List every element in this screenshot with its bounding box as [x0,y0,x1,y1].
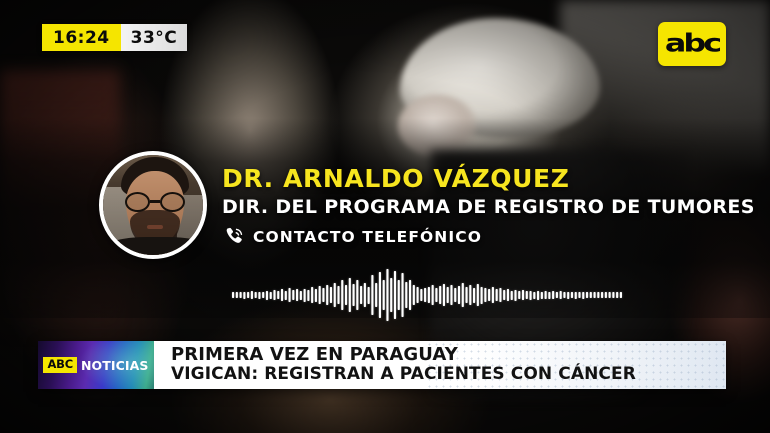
audio-waveform [232,268,622,322]
clock-time: 16:24 [42,24,121,51]
waveform-bar [578,292,580,298]
broadcast-video-frame: 16:24 33°C abc DR. ARNALDO VÁZQUEZ DIR. [0,0,770,433]
abc-logo-text: abc [665,31,719,56]
waveform-bar [511,291,513,300]
waveform-bar [601,292,603,298]
waveform-bar [375,283,377,307]
waveform-bar [612,292,614,298]
waveform-bar [420,289,422,301]
waveform-bar [469,285,471,305]
waveform-bar [401,273,403,317]
waveform-bar [582,292,584,299]
waveform-bar [277,291,279,299]
avatar-glasses-icon [123,192,187,212]
waveform-bar [552,291,554,299]
waveform-bar [492,287,494,303]
waveform-bar [315,289,317,302]
waveform-bar [481,287,483,304]
waveform-bar [356,280,358,310]
waveform-bar [620,292,622,298]
waveform-bar [292,290,294,300]
waveform-bar [522,290,524,300]
waveform-bar [288,288,290,302]
waveform-bar [364,283,366,307]
abc-channel-logo: abc [658,22,726,66]
waveform-bar [609,292,611,298]
waveform-bar [322,288,324,302]
waveform-bar [360,286,362,304]
waveform-bar [371,275,373,315]
waveform-bar [514,290,516,301]
waveform-bar [266,291,268,300]
waveform-bar [262,292,264,298]
waveform-bar [413,285,415,305]
speaker-lower-third: DR. ARNALDO VÁZQUEZ DIR. DEL PROGRAMA DE… [0,140,770,310]
waveform-bar [518,291,520,299]
contact-method-row: CONTACTO TELEFÓNICO [222,225,755,248]
waveform-bar [390,278,392,312]
waveform-bar [398,280,400,310]
waveform-bar [563,292,565,298]
waveform-bar [304,289,306,302]
waveform-bar [307,290,309,301]
waveform-bar [435,288,437,302]
waveform-bar [251,291,253,299]
avatar-mouth [147,225,163,229]
waveform-bar [311,287,313,303]
waveform-bar [368,287,370,304]
waveform-bar [454,288,456,302]
waveform-bar [439,286,441,304]
waveform-bar [529,291,531,300]
avatar-shirt [109,237,205,257]
waveform-bar [575,292,577,299]
waveform-bar [590,292,592,298]
waveform-bar [240,292,242,298]
contact-label: CONTACTO TELEFÓNICO [253,228,482,246]
waveform-bar [285,291,287,300]
avatar-glasses-bridge [150,200,160,203]
waveform-bar [345,285,347,305]
badge-noticias-word: NOTICIAS [81,358,149,373]
waveform-bar [300,291,302,300]
badge-abc-mark: ABC [43,357,77,372]
waveform-bar [548,292,550,299]
waveform-bar [341,280,343,310]
waveform-bar [319,286,321,304]
waveform-bar [405,282,407,308]
headline-main: VIGICAN: REGISTRAN A PACIENTES CON CÁNCE… [171,365,726,385]
waveform-bar [484,288,486,302]
waveform-bar [326,285,328,305]
waveform-bar [255,292,257,298]
waveform-bar [477,284,479,306]
waveform-bar [465,287,467,303]
waveform-bar [296,289,298,301]
waveform-bar [571,292,573,298]
waveform-bar [462,283,464,307]
waveform-bar [526,291,528,299]
waveform-bar [545,291,547,299]
waveform-bar [443,284,445,306]
speaker-role: DIR. DEL PROGRAMA DE REGISTRO DE TUMORES [222,196,755,219]
badge-content: ABC NOTICIAS [43,357,148,372]
waveform-bar [258,292,260,299]
waveform-bar [232,292,234,298]
waveform-bar [593,292,595,298]
waveform-bar [424,288,426,302]
avatar-lens-right [160,192,185,212]
headline-lower-third: ABC NOTICIAS PRIMERA VEZ EN PARAGUAY VIG… [38,341,726,389]
waveform-bar [379,272,381,318]
abc-noticias-badge: ABC NOTICIAS [38,341,154,389]
waveform-bar [383,280,385,310]
waveform-bar [488,289,490,301]
waveform-bar [394,271,396,319]
waveform-bar [349,278,351,312]
speaker-name: DR. ARNALDO VÁZQUEZ [222,166,755,193]
waveform-bar [273,290,275,300]
waveform-bar [605,292,607,298]
clock-temperature-widget: 16:24 33°C [42,24,187,51]
waveform-bar [337,286,339,304]
avatar-lens-left [125,192,150,212]
waveform-bar [247,292,249,298]
waveform-bar [270,292,272,299]
avatar [99,151,207,259]
waveform-bar [236,292,238,298]
waveform-bar [537,291,539,300]
waveform-bar [334,283,336,307]
waveform-bar [616,292,618,298]
waveform-bar [352,284,354,306]
waveform-bar [409,280,411,310]
waveform-bar [458,286,460,304]
waveform-bar [556,292,558,298]
phone-call-icon [222,225,245,248]
waveform-bar [586,292,588,298]
waveform-bar [533,292,535,299]
waveform-bar [243,292,245,299]
waveform-bar [473,288,475,303]
speaker-text-group: DR. ARNALDO VÁZQUEZ DIR. DEL PROGRAMA DE… [222,166,755,248]
waveform-bar [597,292,599,298]
waveform-bar [567,292,569,299]
waveform-bar [281,289,283,301]
headline-kicker: PRIMERA VEZ EN PARAGUAY [171,345,726,365]
waveform-bar [447,287,449,303]
temperature-readout: 33°C [121,24,188,51]
waveform-bar [428,287,430,303]
waveform-bar [499,288,501,302]
waveform-bar [496,289,498,301]
headline-text-panel: PRIMERA VEZ EN PARAGUAY VIGICAN: REGISTR… [154,341,726,389]
waveform-bar [541,292,543,299]
waveform-bar [386,269,388,321]
waveform-bar [432,285,434,305]
waveform-bar [507,289,509,301]
waveform-bar [417,287,419,303]
waveform-bar [330,287,332,303]
waveform-bar [503,290,505,300]
waveform-bar [560,291,562,299]
waveform-bar [450,285,452,305]
